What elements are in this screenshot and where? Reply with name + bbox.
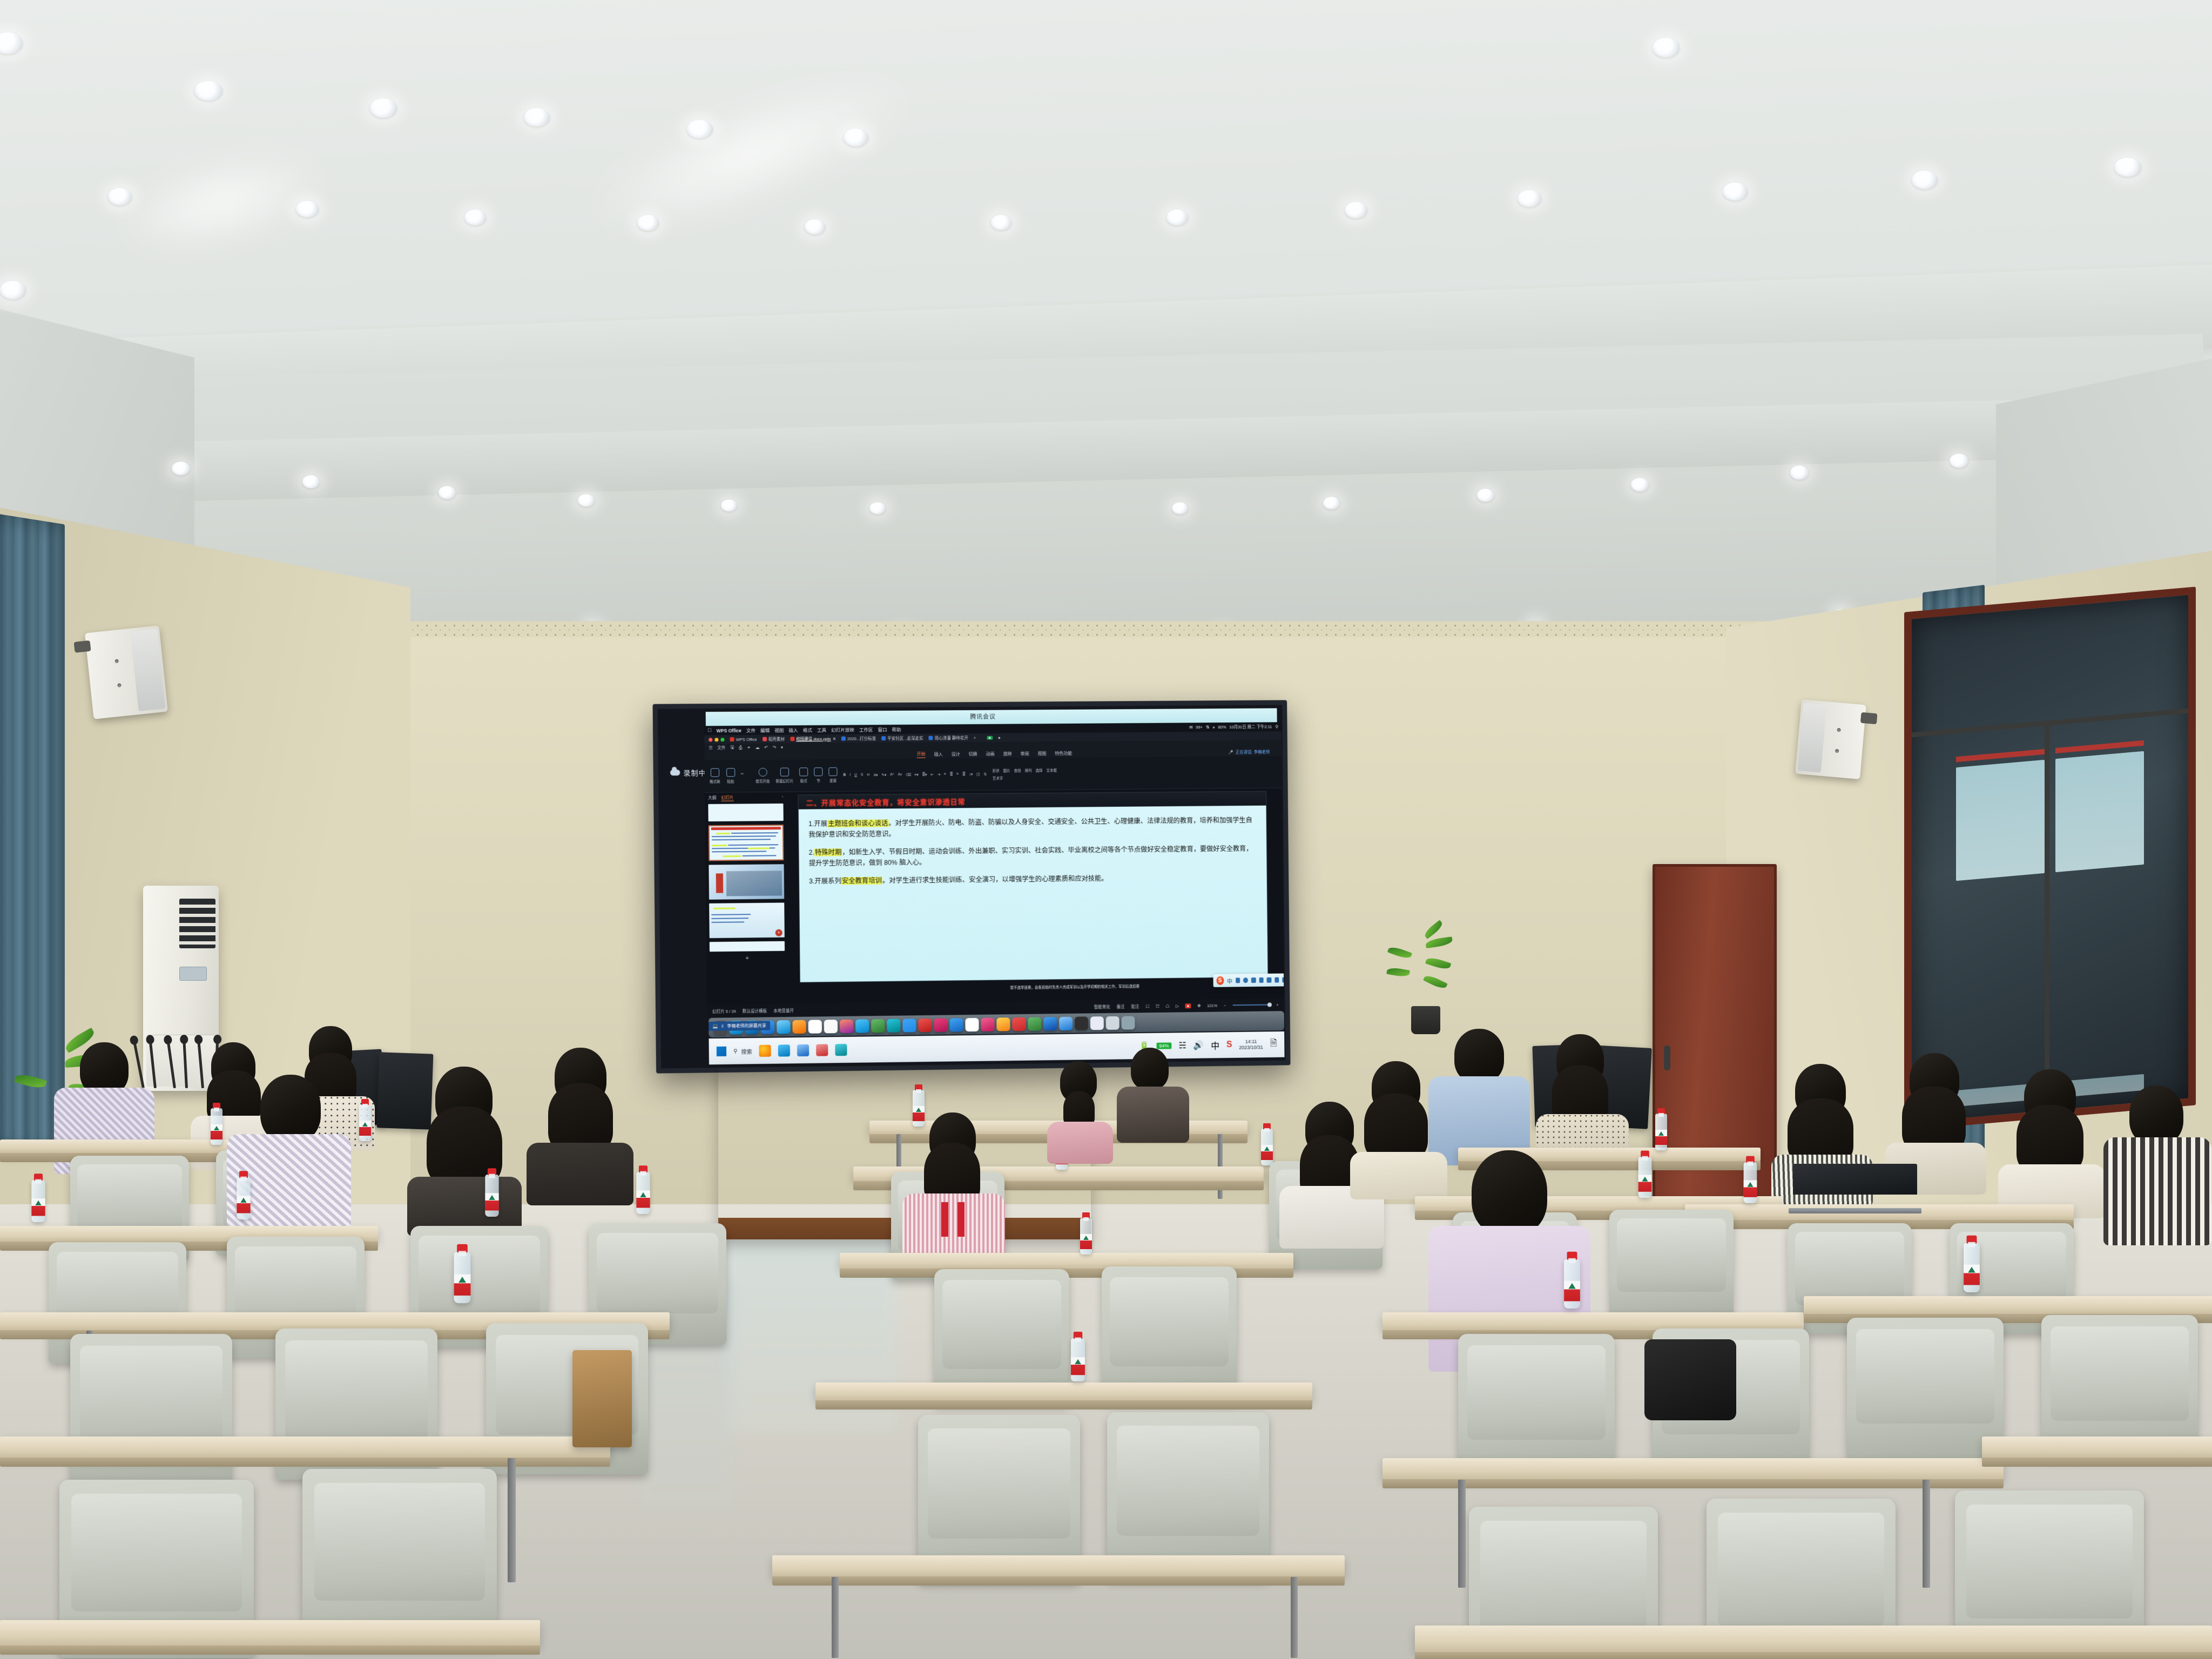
microphone-icon: 🎤 [1229,750,1233,755]
save-icon[interactable]: 🖫 [730,744,734,751]
compass-icon[interactable] [777,1020,790,1034]
wps-editor-body: 大纲 幻灯片 ‹ 5 [705,788,1284,1005]
appstore-icon[interactable] [902,1019,916,1032]
bottle-label [1564,1281,1580,1301]
ribbon-label: 新建幻灯片 [775,778,793,784]
fit-slide-icon[interactable]: ✥ [1197,1003,1201,1008]
minimize-icon[interactable] [714,738,718,741]
superscript-icon[interactable]: x² [867,773,870,777]
podcasts-icon[interactable] [934,1018,947,1031]
doc-tab-label: 2020...打分标准 [847,736,876,741]
doc-tab-flowers[interactable]: 用心浇灌 静待花开 [929,735,968,741]
para-highlight: 主题班会和谈心谈话 [827,819,888,827]
audio-status[interactable]: 本地音量开 [773,1007,794,1013]
clear-format-icon[interactable]: ⌫ [906,772,911,777]
bullet-list-icon[interactable]: ≡▾ [914,772,918,777]
bottle-neck [1747,1162,1753,1166]
water-bottle[interactable] [359,1104,371,1141]
chair[interactable] [1107,1412,1269,1580]
recording-indicator: 录制中 [670,767,706,778]
sogou-tray-icon[interactable]: S [1226,1040,1232,1050]
desk-leg [832,1577,839,1658]
ceiling-downlight [1518,190,1541,207]
zoom-in-icon[interactable]: + [1276,1002,1278,1007]
chair[interactable] [1847,1318,2004,1461]
water-bottle[interactable] [1071,1338,1085,1381]
attendee [1534,1034,1631,1164]
tab-view[interactable]: 视图 [1037,751,1046,757]
new-slide-icon [780,768,789,777]
ceiling-downlight [1723,183,1748,200]
cloud-drive-icon[interactable] [1059,1016,1073,1030]
docer-icon [763,737,767,741]
torso [1117,1087,1189,1143]
tab-slideshow[interactable]: 放映 [1003,751,1012,757]
record-icon[interactable]: ● [1185,1003,1191,1008]
ribbon-reset[interactable]: 重置 [828,767,837,783]
ribbon-format-painter[interactable]: 格式刷 [710,768,720,784]
arrange-button[interactable]: 排列 [1024,767,1031,773]
backpack [1644,1339,1736,1420]
ceiling-downlight [1653,38,1680,57]
desk-leg [1291,1577,1298,1658]
qq-icon[interactable] [1012,1017,1026,1030]
ceiling-downlight [991,215,1011,230]
reminders-icon[interactable] [824,1020,838,1033]
font-color-icon[interactable]: A▾ [874,773,878,777]
notes-button[interactable]: 备注 [1117,1003,1125,1009]
active-speaker-label: 正在讲话: 李楠老师 [1236,749,1270,755]
notes-icon[interactable] [792,1020,806,1033]
ribbon-start-from-first[interactable]: 首页开始 [756,768,770,784]
strikethrough-icon[interactable]: S [861,773,863,777]
doc-tab-scoring[interactable]: 2020...打分标准 [841,736,876,741]
voice-input-icon[interactable] [1251,977,1256,983]
avatar[interactable]: ● [998,735,1001,740]
shrink-font-icon[interactable]: Av [898,773,902,777]
lecture-hall-photo: 腾讯会议 录制中  WPS Office 文件 编辑 视图 插入 格式 工具 … [0,0,2212,1659]
thumbnail-view-tabs[interactable]: 大纲 幻灯片 ‹ [708,794,783,801]
menubar-clock[interactable]: 10月31日 周二 下午2:11 [1229,724,1272,730]
slide-canvas-pane[interactable]: 二、开展常态化安全教育，将安全意识渗透日常 1.开展主题班会和谈心谈话。对学生开… [786,788,1284,1004]
comments-button[interactable]: 批注 [1131,1003,1139,1009]
bottle-label [211,1124,222,1139]
sogou-ime-toolbar[interactable]: S 中 [1213,973,1284,987]
zoom-out-icon[interactable]: − [1224,1003,1226,1008]
ceiling-downlight [637,215,659,231]
ribbon-font-paragraph-group[interactable]: B I U S x² A▾ ✎▾ A^ Av ⌫ ≡▾ ≣▾ ⇤ ⇥ ≡ ≣ ≡ [844,772,987,777]
bottle-label [1964,1265,1980,1285]
preview-icon[interactable] [981,1017,994,1031]
bottle-label [1655,1130,1667,1145]
water-bottle[interactable] [1964,1243,1980,1292]
line-spacing-icon[interactable]: ↕▾ [969,772,973,777]
chair[interactable] [1102,1266,1237,1401]
zoom-level[interactable]: 101% [1207,1003,1217,1008]
emoji-icon[interactable] [1243,977,1248,983]
search-icon: ⚲ [733,1048,737,1054]
water-bottle[interactable] [1655,1114,1667,1150]
doc-tab-active-pptx[interactable]: 校园建设.docx.pptx ✕ [790,736,836,742]
select-button[interactable]: 选择 [1035,767,1042,773]
wechat-icon[interactable] [965,1017,979,1031]
ime-menu-icon[interactable] [1283,977,1284,982]
taskbar-search[interactable]: ⚲ 搜索 [733,1047,752,1055]
bottle-label [237,1196,250,1213]
menu-help[interactable]: 帮助 [892,726,901,732]
wifi-icon[interactable]: ◕ [1212,725,1215,730]
shared-macos-desktop:  WPS Office 文件 编辑 视图 插入 格式 工具 幻灯片放映 工作区… [704,722,1284,1018]
head [1454,1029,1504,1083]
head [260,1075,321,1143]
thumb-highlight [723,855,741,857]
room-door[interactable] [1653,864,1777,1242]
ceiling-downlight [108,188,132,205]
ceiling-downlight [2114,158,2141,177]
highlight-color-icon[interactable]: ✎▾ [881,773,886,777]
window-controls[interactable] [709,738,724,741]
thumb-text-line [743,855,776,857]
italic-icon[interactable]: I [849,773,851,777]
justify-icon[interactable]: ≣ [962,772,966,777]
laptop-keyboard[interactable] [1789,1208,1921,1213]
water-bottle[interactable] [1261,1129,1273,1165]
ribbon-layout[interactable]: 版式 [799,767,808,783]
ceiling-downlight [1345,202,1367,218]
decrease-indent-icon[interactable]: ⇤ [930,772,934,777]
keyboard-icon[interactable] [1259,977,1264,983]
share-icon[interactable]: ⚭ [747,745,750,750]
doc-tab-label: WPS Office [736,737,757,741]
desk-leg [1458,1480,1466,1588]
doc-tab-community[interactable]: 平安社区...走深走实 [881,735,923,741]
para-number: 1. [808,820,814,827]
desk-front [1415,1652,2212,1659]
file-explorer-icon[interactable] [797,1044,809,1056]
increase-indent-icon[interactable]: ⇥ [938,772,941,777]
speaker-grille [131,629,166,711]
fruit-widget-icon[interactable] [759,1045,771,1057]
water-bottle[interactable] [237,1177,250,1219]
contacts-icon[interactable] [887,1019,900,1032]
handwriting-icon[interactable] [1267,977,1272,983]
bottle-neck [1083,1217,1089,1221]
doc-tab-wps-office[interactable]: WPS Office [730,737,757,741]
laptop[interactable] [1793,1164,1917,1213]
insert-shape-button[interactable]: 形状 [993,767,1000,773]
photos-icon[interactable] [840,1019,853,1033]
slide-counter: 幻灯片 5 / 39 [712,1008,736,1015]
ceiling-downlight [464,210,486,225]
bold-icon[interactable]: B [844,773,846,777]
settings-icon[interactable] [1090,1016,1104,1030]
menu-window[interactable]: 窗口 [878,726,887,733]
monitor-icon: 💻 [712,1024,718,1029]
design-template-label[interactable]: 默认设计模板 [743,1008,767,1014]
ceiling-downlight [869,502,886,514]
calendar-icon[interactable] [808,1020,822,1033]
present-icon[interactable]: ▷ [1176,1003,1179,1008]
notification-center-icon[interactable]: 🗎 [1270,1037,1277,1052]
plant-leaf [1425,956,1451,971]
ac-control-panel[interactable] [179,967,207,981]
ceiling-downlight [721,500,737,511]
slide-thumbnail[interactable] [708,804,783,821]
new-tab-icon[interactable]: + [974,735,976,740]
bottle-neck [1264,1128,1270,1132]
slide-thumbnail-pane[interactable]: 大纲 幻灯片 ‹ 5 [705,792,788,1005]
file-menu-button[interactable]: 文件 [717,745,725,751]
columns-icon[interactable]: ◫ [976,772,980,776]
browser-icon[interactable] [1043,1017,1057,1030]
attendee [899,1112,1007,1237]
search-icon[interactable]: ⚲ [1275,724,1278,729]
desk [0,1620,540,1646]
doc-tab-label: 平安社区...走深走实 [887,735,923,741]
wps-ribbon[interactable]: 格式刷 粘贴 ✂ 首页开始 新建幻灯片 [704,756,1282,793]
ceiling-downlight [0,281,26,299]
desk-front [1382,1479,2004,1488]
upgrade-badge[interactable]: ▲ [987,736,993,739]
downloads-icon[interactable] [1106,1016,1120,1029]
align-left-icon[interactable]: ≡ [944,772,946,776]
tab-outline[interactable]: 大纲 [708,795,716,801]
menu-insert[interactable]: 插入 [788,727,798,733]
head [1472,1150,1547,1236]
water-bottle[interactable] [1080,1218,1092,1255]
insert-picture-button[interactable]: 图片 [1003,767,1010,773]
menubar-spacer [906,727,1185,729]
add-slide-badge[interactable]: + [775,929,783,936]
ceiling-downlight [296,201,319,217]
chair[interactable] [1458,1334,1615,1477]
menu-edit[interactable]: 编辑 [760,727,770,733]
menubar-status-tray[interactable]: ✉ 99+ ⇅ ◕ 80% 10月31日 周二 下午2:11 ⚲ [1189,724,1278,730]
cloud-icon [670,770,680,775]
paper-bag [572,1350,632,1447]
align-right-icon[interactable]: ≡ [956,772,959,776]
torso-striped-shirt [2103,1137,2211,1245]
ribbon-label: 格式刷 [710,779,720,784]
water-bottle[interactable] [1744,1162,1757,1203]
speaker-grille [1798,703,1827,772]
cloud-sync-icon[interactable]: ☁ [755,745,759,750]
bottle-label [636,1190,650,1208]
water-bottle[interactable] [1638,1157,1652,1198]
wordart-button[interactable]: 艺术字 [993,775,1003,780]
textbox-button[interactable]: 文本框 [1046,767,1057,772]
speaker-screw [1837,728,1841,732]
para-rest: 。对学生进行求生技能训练、安全演习，以增强学生的心理素质和应对技能。 [882,874,1108,884]
screen-share-bar[interactable]: 💻 ⇩ 李楠老师的屏幕共享 [709,1021,770,1031]
attendee [1998,1069,2106,1215]
doc-tab-label: 稻壳素材 [768,736,785,742]
current-slide[interactable]: 二、开展常态化安全教育，将安全意识渗透日常 1.开展主题班会和谈心谈话。对学生开… [798,792,1267,982]
underline-icon[interactable]: U [854,773,857,777]
undo-icon[interactable]: ↶ [764,745,767,750]
align-center-icon[interactable]: ≣ [950,772,953,777]
tab-animation[interactable]: 动画 [986,751,995,757]
slide-thumbnail[interactable]: 7 + [709,902,785,938]
projection-screen[interactable]: 腾讯会议 录制中  WPS Office 文件 编辑 视图 插入 格式 工具 … [652,700,1290,1073]
windows-start-icon[interactable] [717,1047,726,1056]
menu-view[interactable]: 视图 [774,727,784,733]
door-handle[interactable] [1664,1046,1670,1070]
thumb-highlight [748,847,770,849]
play-circle-icon [758,768,767,777]
menu-tools[interactable]: 工具 [817,726,826,733]
wps-icon[interactable] [1028,1017,1041,1030]
desk [1804,1296,2212,1314]
desk-leg [1923,1480,1930,1588]
sogou-logo-icon[interactable]: S [1216,976,1224,985]
ribbon-label: 版式 [800,778,807,783]
tab-close-icon[interactable]: ✕ [833,736,836,741]
layout-icon [799,767,808,776]
mail-icon[interactable]: ✉ [1189,725,1192,730]
hair-ribbon [957,1202,965,1237]
bottle-label [1080,1234,1092,1249]
desk-front [815,1400,1312,1410]
maps-icon[interactable] [996,1017,1010,1031]
attendee [1040,1061,1121,1158]
windows-taskbar[interactable]: ⚲ 搜索 🔋 94% ☵ 🔊 中 S 14:11 2023/10/31 🗎 [709,1031,1284,1064]
skin-icon[interactable] [1274,977,1279,983]
water-bottle[interactable] [636,1172,650,1214]
reading-view-icon[interactable]: ☖ [1165,1003,1169,1008]
ribbon-paste[interactable]: 粘贴 [726,768,734,784]
tencent-meeting-icon[interactable] [949,1018,963,1031]
hamburger-icon[interactable]: ☰ [709,745,712,750]
ceiling-downlight [194,81,222,100]
pptx-file-icon [929,736,933,740]
ribbon-label: 首页开始 [756,778,770,784]
number-list-icon[interactable]: ≣▾ [922,772,927,777]
punctuation-icon[interactable] [1236,977,1240,983]
tencent-meeting-icon[interactable] [835,1044,847,1056]
ceiling-downlight [1631,478,1649,491]
paste-icon [726,768,734,777]
music-icon[interactable] [918,1018,932,1031]
laptop-screen [1793,1164,1917,1195]
edge-icon[interactable] [778,1044,790,1056]
bottle-label [31,1198,45,1216]
slide-thumbnail-selected[interactable]: 5 [709,825,784,861]
tab-start[interactable]: 开始 [917,751,926,758]
qq-icon[interactable] [816,1044,828,1056]
water-bottle[interactable] [211,1108,222,1145]
zoom-slider[interactable] [1232,1004,1270,1006]
active-speaker-indicator: 🎤 正在讲话: 李楠老师 [1229,749,1270,755]
volume-icon[interactable]: 🔊 [1193,1040,1204,1051]
desk [1982,1437,2212,1458]
slide-body: 1.开展主题班会和谈心谈话。对学生开展防火、防电、防盗、防骗以及人身安全、交通安… [799,806,1267,900]
ribbon-cut[interactable]: ✂ [741,772,750,780]
add-slide-icon[interactable]: + [710,955,785,962]
wall-speaker-left [85,625,168,719]
ceiling-downlight [0,32,23,54]
doc-tab-docer[interactable]: 稻壳素材 [763,736,785,742]
attendee [2103,1085,2211,1242]
menu-file[interactable]: 文件 [746,727,756,733]
facetime-icon[interactable] [871,1019,885,1032]
ceiling-downlight [370,98,397,118]
sorter-view-icon[interactable]: ☷ [1156,1003,1159,1008]
ribbon-insert-tools-group[interactable]: 形状 图片 查找 排列 选择 文本框 艺术字 [993,767,1063,780]
tab-transition[interactable]: 切换 [969,751,977,757]
desk-front [772,1576,1345,1586]
water-bottle[interactable] [1564,1259,1580,1309]
apple-logo-icon[interactable]:  [707,727,712,733]
collapse-pane-icon[interactable]: ‹ [782,794,784,801]
scissors-icon: ✂ [741,772,750,780]
maximize-icon[interactable] [720,738,724,741]
tab-review[interactable]: 审阅 [1020,751,1029,757]
speaker-screw [1835,748,1839,753]
tab-slides[interactable]: 幻灯片 [721,794,733,801]
menu-slideshow[interactable]: 幻灯片放映 [831,726,854,733]
bottle-neck [214,1108,219,1111]
terminal-icon[interactable] [1075,1016,1088,1030]
text-direction-icon[interactable]: ⇅ [983,772,987,776]
messages-icon[interactable] [855,1019,869,1033]
chevron-down-icon[interactable]: ▾ [781,745,783,750]
ribbon-new-slide[interactable]: 新建幻灯片 [775,767,793,783]
speaker-notes[interactable]: 暂不选举班委，由各班临时负责人完成军训以及开学初期的相关工作，军训后选班委 [881,982,1268,993]
ime-tray-icon[interactable]: 中 [1211,1038,1219,1051]
tab-design[interactable]: 设计 [952,751,960,757]
microphone-icon [167,1041,176,1089]
desk-front [0,1458,610,1467]
beautify-button[interactable]: 智能美化 [1094,1004,1110,1010]
print-icon[interactable]: ⎙ [739,745,742,750]
find-button[interactable]: 查找 [1014,767,1021,773]
slide-thumbnail[interactable]: 8 [710,941,785,952]
para-highlight: 安全教育培训 [841,876,882,885]
ceiling-downlight [172,462,190,475]
ime-mode-label[interactable]: 中 [1227,976,1232,984]
head [2129,1085,2183,1145]
ceiling-downlight [687,120,713,138]
tab-insert[interactable]: 插入 [934,751,943,757]
water-bottle[interactable] [485,1175,498,1217]
taskbar-clock[interactable]: 14:11 2023/10/31 [1239,1038,1263,1051]
thumb-text-line [711,914,751,915]
trash-icon[interactable] [1121,1016,1135,1029]
ribbon-section[interactable]: 节 [814,767,822,783]
torso [902,1193,1005,1257]
water-bottle[interactable] [31,1180,45,1222]
battery-percent: 80% [1218,725,1226,730]
tab-features[interactable]: 特色功能 [1055,751,1072,757]
ceiling-downlight [302,475,320,488]
water-bottle[interactable] [454,1252,471,1303]
menu-format[interactable]: 格式 [803,726,812,733]
slide-paragraph-3: 3.开展系列安全教育培训。对学生进行求生技能训练、安全演习，以增强学生的心理素质… [809,872,1255,887]
para-lead: 开展 [814,820,827,827]
menu-workspace[interactable]: 工作区 [859,726,873,733]
slide-thumbnail[interactable]: 6 [709,864,784,900]
torso [1047,1122,1113,1164]
redo-icon[interactable]: ↷ [772,745,775,750]
normal-view-icon[interactable]: ☐ [1145,1004,1149,1009]
grow-font-icon[interactable]: A^ [890,773,894,777]
bluetooth-icon[interactable]: ⇅ [1206,725,1209,730]
desk [1382,1458,2004,1480]
head [1131,1048,1169,1090]
close-icon[interactable] [709,738,712,741]
chair[interactable] [1609,1210,1734,1320]
